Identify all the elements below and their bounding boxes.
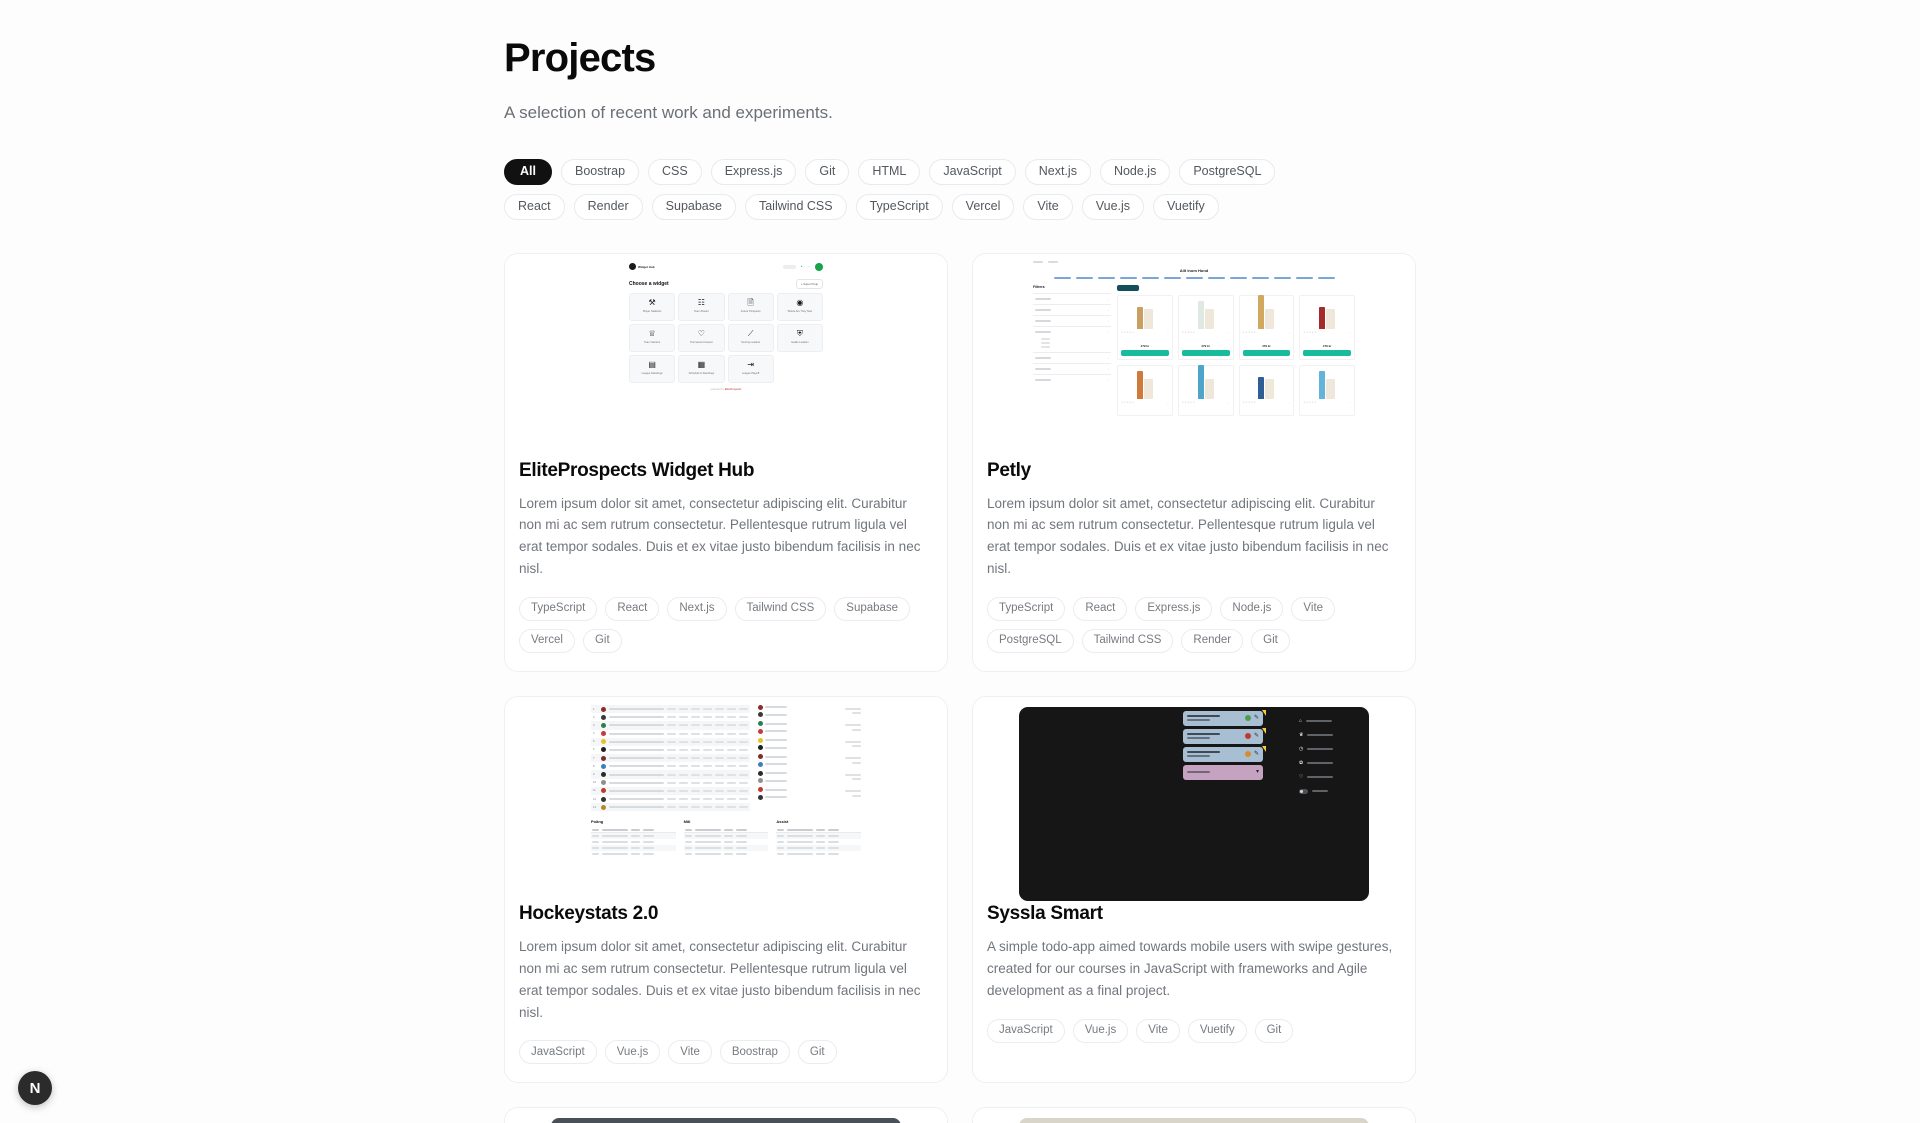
filter-chip-javascript[interactable]: JavaScript [929, 159, 1015, 185]
product-name [1121, 405, 1169, 412]
nextjs-logo-icon: N [30, 1080, 41, 1097]
team-logo-icon [601, 788, 606, 793]
project-card[interactable]: ‹›Snart skapar vi nya minnenLäs mer [504, 1107, 948, 1123]
project-preview-image: Widget Hub●—Choose a widget+ Super Proje… [505, 254, 947, 460]
project-card[interactable]: Widget Hub●—Choose a widget+ Super Proje… [504, 253, 948, 672]
widget-tile-label: League Playoff [742, 372, 759, 375]
filter-chip-css[interactable]: CSS [648, 159, 702, 185]
project-tag: React [605, 597, 659, 621]
widget-tile-label: Goalie Leaders [791, 341, 809, 344]
preview-action-button: + Super Proje [796, 279, 823, 289]
heart-icon: ♡ [1299, 775, 1303, 780]
product-card: ★★★★★♡479 kr [1239, 295, 1295, 360]
table-row: 11 [591, 787, 750, 795]
filter-chip-render[interactable]: Render [574, 194, 643, 220]
table-row: 8 [591, 762, 750, 770]
fixture-row [758, 754, 861, 767]
team-logo-icon [601, 780, 606, 785]
table-row: 5 [591, 738, 750, 746]
product-card: ★★★★★♡479 kr [1299, 295, 1355, 360]
project-title: EliteProspects Widget Hub [519, 460, 933, 482]
team-logo-icon [601, 805, 606, 810]
project-tag-list: JavaScriptVue.jsViteBoostrapGit [519, 1040, 933, 1064]
gear-icon: ✿ [1299, 761, 1303, 766]
product-card: ★★★★★♡ [1239, 365, 1295, 416]
product-card: ★★★★★♡479 kr [1178, 295, 1234, 360]
sticks-icon: ⚒ [649, 299, 656, 307]
cap-icon: ♕ [649, 330, 656, 338]
project-preview-image: 12345678910111213PoängMålAssist [505, 697, 947, 903]
widget-tile-label: Team Starters [644, 341, 660, 344]
team-logo-icon [601, 731, 606, 736]
preview-petly-store: Allt inom HundFiltrera›››››››★★★★★♡479 k… [1029, 259, 1359, 416]
add-to-cart-button [1182, 350, 1230, 356]
widget-tile-label: Future Prospects [741, 310, 761, 313]
preview-brollop-hero: ‹›Snart skapar vi nya minnenLäs mer [551, 1118, 901, 1123]
projects-grid: Widget Hub●—Choose a widget+ Super Proje… [504, 253, 1416, 1123]
project-tag-list: TypeScriptReactExpress.jsNode.jsVitePost… [987, 597, 1401, 653]
fixture-row [758, 787, 861, 800]
widget-tile-label: Team Roster [694, 310, 709, 313]
fixture-row [758, 771, 861, 784]
project-tag: Supabase [834, 597, 910, 621]
project-tag: PostgreSQL [987, 629, 1074, 653]
product-price: 479 kr [1182, 342, 1230, 350]
filter-chip-express-js[interactable]: Express.js [711, 159, 797, 185]
filter-chip-react[interactable]: React [504, 194, 565, 220]
widget-tile: 🗎Future Prospects [728, 293, 774, 321]
task-item: ✎ [1183, 711, 1263, 726]
project-title: Petly [987, 460, 1401, 482]
menu-item [1299, 789, 1361, 794]
filter-chip-list: AllBoostrapCSSExpress.jsGitHTMLJavaScrip… [504, 159, 1334, 220]
brand-logo-icon [629, 263, 636, 270]
edit-icon: ✎ [1254, 751, 1259, 757]
chevron-down-icon: ▾ [1256, 769, 1259, 775]
filter-chip-git[interactable]: Git [805, 159, 849, 185]
project-tag: TypeScript [987, 597, 1065, 621]
trophy-icon: ♡ [698, 330, 705, 338]
project-tag: Render [1181, 629, 1243, 653]
edit-icon: ✎ [1254, 733, 1259, 739]
team-logo-icon [601, 797, 606, 802]
preview-footer: powered by EliteProspects [626, 383, 826, 391]
filter-chip-html[interactable]: HTML [858, 159, 920, 185]
project-tag: Git [1255, 1019, 1294, 1043]
widget-tile: ▤League Standings [629, 355, 675, 383]
table-row: 3 [591, 721, 750, 729]
filter-chip-vercel[interactable]: Vercel [952, 194, 1015, 220]
filter-chip-next-js[interactable]: Next.js [1025, 159, 1091, 185]
team-logo-icon [601, 756, 606, 761]
product-price: 479 kr [1303, 342, 1351, 350]
widget-tile: ⟋Scoring Leaders [728, 324, 774, 352]
home-icon: ⌂ [1299, 719, 1302, 724]
project-description: Lorem ipsum dolor sit amet, consectetur … [987, 493, 1401, 580]
project-tag: Tailwind CSS [1082, 629, 1174, 653]
trophy-icon: ♛ [1299, 733, 1303, 738]
table-row: 4 [591, 730, 750, 738]
team-logo-icon [601, 723, 606, 728]
avatar [815, 263, 823, 271]
project-tag: Vuetify [1188, 1019, 1247, 1043]
project-description: Lorem ipsum dolor sit amet, consectetur … [519, 936, 933, 1023]
status-dot [1245, 715, 1251, 721]
filter-chip-supabase[interactable]: Supabase [652, 194, 736, 220]
project-tag: Vite [668, 1040, 712, 1064]
filter-chip-vuetify[interactable]: Vuetify [1153, 194, 1219, 220]
project-tag: JavaScript [987, 1019, 1065, 1043]
page-subtitle: A selection of recent work and experimen… [504, 100, 1416, 126]
export-icon: ⇥ [747, 361, 754, 369]
page-title: Projects [504, 0, 1416, 80]
project-description: Lorem ipsum dolor sit amet, consectetur … [519, 493, 933, 580]
product-card: ★★★★★♡479 kr [1117, 295, 1173, 360]
project-card[interactable]: GreenLeaf SolutionsHÅLLBARHET • INNOVATI… [972, 1107, 1416, 1123]
team-logo-icon [601, 739, 606, 744]
project-tag: Node.js [1220, 597, 1283, 621]
add-to-cart-button [1121, 350, 1169, 356]
product-name [1303, 335, 1351, 342]
preview-greenleaf-hero: GreenLeaf SolutionsHÅLLBARHET • INNOVATI… [1019, 1118, 1369, 1123]
project-card[interactable]: ✎✎✎▾⌂♛◷✿♡Syssla SmartA simple todo-app a… [972, 696, 1416, 1083]
edit-icon: ✎ [1254, 715, 1259, 721]
project-preview-image: ✎✎✎▾⌂♛◷✿♡ [973, 697, 1415, 903]
pin-icon: ◉ [796, 299, 803, 307]
product-name [1182, 405, 1230, 412]
project-tag: Next.js [667, 597, 726, 621]
widget-tile-label: Player Statistics [643, 310, 661, 313]
stats-row [684, 851, 769, 857]
stats-row [776, 851, 861, 857]
project-tag: TypeScript [519, 597, 597, 621]
project-preview-image: GreenLeaf SolutionsHÅLLBARHET • INNOVATI… [973, 1108, 1415, 1123]
project-tag: Boostrap [720, 1040, 790, 1064]
nextjs-dev-badge[interactable]: N [18, 1071, 52, 1105]
product-name [1303, 405, 1351, 412]
table-icon: ▤ [648, 361, 656, 369]
project-tag: Vue.js [605, 1040, 661, 1064]
widget-tile: ☷Team Roster [678, 293, 724, 321]
add-to-cart-button [1243, 350, 1291, 356]
product-name [1243, 335, 1291, 342]
project-tag: Express.js [1135, 597, 1212, 621]
menu-item: ♛ [1299, 733, 1361, 738]
team-logo-icon [601, 707, 606, 712]
history-icon: ◷ [1299, 747, 1303, 752]
fixture-row [758, 705, 861, 718]
widget-tile-label: Tournament Games [690, 341, 713, 344]
roster-icon: ☷ [698, 299, 705, 307]
project-title: Hockeystats 2.0 [519, 903, 933, 925]
project-card[interactable]: 12345678910111213PoängMålAssistHockeysta… [504, 696, 948, 1083]
product-card: ★★★★★♡ [1178, 365, 1234, 416]
project-description: A simple todo-app aimed towards mobile u… [987, 936, 1401, 1002]
widget-tile: ▦Schedule & Standings [678, 355, 724, 383]
stats-column-title: Mål [684, 819, 769, 827]
filter-chip-vue-js[interactable]: Vue.js [1082, 194, 1144, 220]
stats-column-title: Assist [776, 819, 861, 827]
menu-item: ◷ [1299, 747, 1361, 752]
project-tag: Git [583, 629, 622, 653]
task-item: ▾ [1183, 765, 1263, 780]
fixture-row [758, 738, 861, 751]
table-row: 2 [591, 713, 750, 721]
project-tag: Git [1251, 629, 1290, 653]
project-tag-list: TypeScriptReactNext.jsTailwind CSSSupaba… [519, 597, 933, 653]
product-name [1243, 405, 1291, 412]
product-name [1121, 335, 1169, 342]
preview-widget-hub: Widget Hub●—Choose a widget+ Super Proje… [626, 263, 826, 391]
project-card[interactable]: Allt inom HundFiltrera›››››››★★★★★♡479 k… [972, 253, 1416, 672]
table-row: 13 [591, 803, 750, 811]
project-tag: Vercel [519, 629, 575, 653]
stick-icon: ⟋ [748, 330, 754, 338]
project-tag: JavaScript [519, 1040, 597, 1064]
product-card: ★★★★★♡ [1117, 365, 1173, 416]
table-row: 12 [591, 795, 750, 803]
page-content: Projects A selection of recent work and … [504, 0, 1416, 1123]
team-logo-icon [601, 764, 606, 769]
table-row: 1 [591, 705, 750, 713]
team-logo-icon [601, 772, 606, 777]
task-item: ✎ [1183, 747, 1263, 762]
stats-column-title: Poäng [591, 819, 676, 827]
shield-icon: ⛨ [797, 330, 803, 338]
flag-icon [1262, 746, 1266, 752]
project-tag: Vue.js [1073, 1019, 1129, 1043]
widget-tile-label: League Standings [642, 372, 663, 375]
preview-hockey-stats: 12345678910111213PoängMålAssist [591, 705, 861, 857]
menu-item: ⌂ [1299, 719, 1361, 724]
widget-tile: ◉Where Are They Now [777, 293, 823, 321]
preview-syssla-app: ✎✎✎▾⌂♛◷✿♡ [1019, 707, 1369, 901]
stats-row [591, 851, 676, 857]
status-dot [1245, 751, 1251, 757]
team-logo-icon [601, 715, 606, 720]
widget-tile-label: Where Are They Now [788, 310, 813, 313]
brand-name: Widget Hub [638, 265, 655, 269]
product-card: ★★★★★♡ [1299, 365, 1355, 416]
flag-icon [1262, 710, 1266, 716]
filter-chip-all[interactable]: All [504, 159, 552, 185]
filter-chip-boostrap[interactable]: Boostrap [561, 159, 639, 185]
fixture-row [758, 721, 861, 734]
filter-chip-typescript[interactable]: TypeScript [856, 194, 943, 220]
widget-tile: ⚒Player Statistics [629, 293, 675, 321]
product-price: 479 kr [1243, 342, 1291, 350]
table-row: 10 [591, 779, 750, 787]
flag-icon [1262, 728, 1266, 734]
product-name [1182, 335, 1230, 342]
filter-chip-postgresql[interactable]: PostgreSQL [1179, 159, 1275, 185]
project-tag: Tailwind CSS [735, 597, 827, 621]
status-dot [1245, 733, 1251, 739]
project-tag: React [1073, 597, 1127, 621]
team-logo-icon [601, 747, 606, 752]
task-item: ✎ [1183, 729, 1263, 744]
widget-tile: ♡Tournament Games [678, 324, 724, 352]
widget-tile-label: Scoring Leaders [741, 341, 760, 344]
table-row: 9 [591, 770, 750, 778]
menu-item: ♡ [1299, 775, 1361, 780]
add-to-cart-button [1303, 350, 1351, 356]
widget-tile: ⛨Goalie Leaders [777, 324, 823, 352]
preview-heading: Choose a widget [629, 281, 669, 287]
product-price: 479 kr [1121, 342, 1169, 350]
project-tag: Git [798, 1040, 837, 1064]
projects-page: Projects A selection of recent work and … [0, 0, 1920, 1123]
widget-tile: ⇥League Playoff [728, 355, 774, 383]
menu-item: ✿ [1299, 761, 1361, 766]
filter-chip-vite[interactable]: Vite [1023, 194, 1072, 220]
sort-dropdown [1117, 285, 1139, 291]
table-row: 7 [591, 754, 750, 762]
project-preview-image: ‹›Snart skapar vi nya minnenLäs mer [505, 1108, 947, 1123]
document-icon: 🗎 [747, 299, 753, 307]
filter-chip-node-js[interactable]: Node.js [1100, 159, 1170, 185]
project-title: Syssla Smart [987, 903, 1401, 925]
table-row: 6 [591, 746, 750, 754]
preview-filter-title: Filtrera [1033, 285, 1111, 293]
widget-tile-label: Schedule & Standings [689, 372, 715, 375]
project-tag: Vite [1136, 1019, 1180, 1043]
calendar-icon: ▦ [698, 361, 706, 369]
project-tag-list: JavaScriptVue.jsViteVuetifyGit [987, 1019, 1401, 1043]
project-tag: Vite [1291, 597, 1335, 621]
widget-tile: ♕Team Starters [629, 324, 675, 352]
project-preview-image: Allt inom HundFiltrera›››››››★★★★★♡479 k… [973, 254, 1415, 460]
filter-chip-tailwind-css[interactable]: Tailwind CSS [745, 194, 847, 220]
toggle-icon [1299, 789, 1308, 794]
